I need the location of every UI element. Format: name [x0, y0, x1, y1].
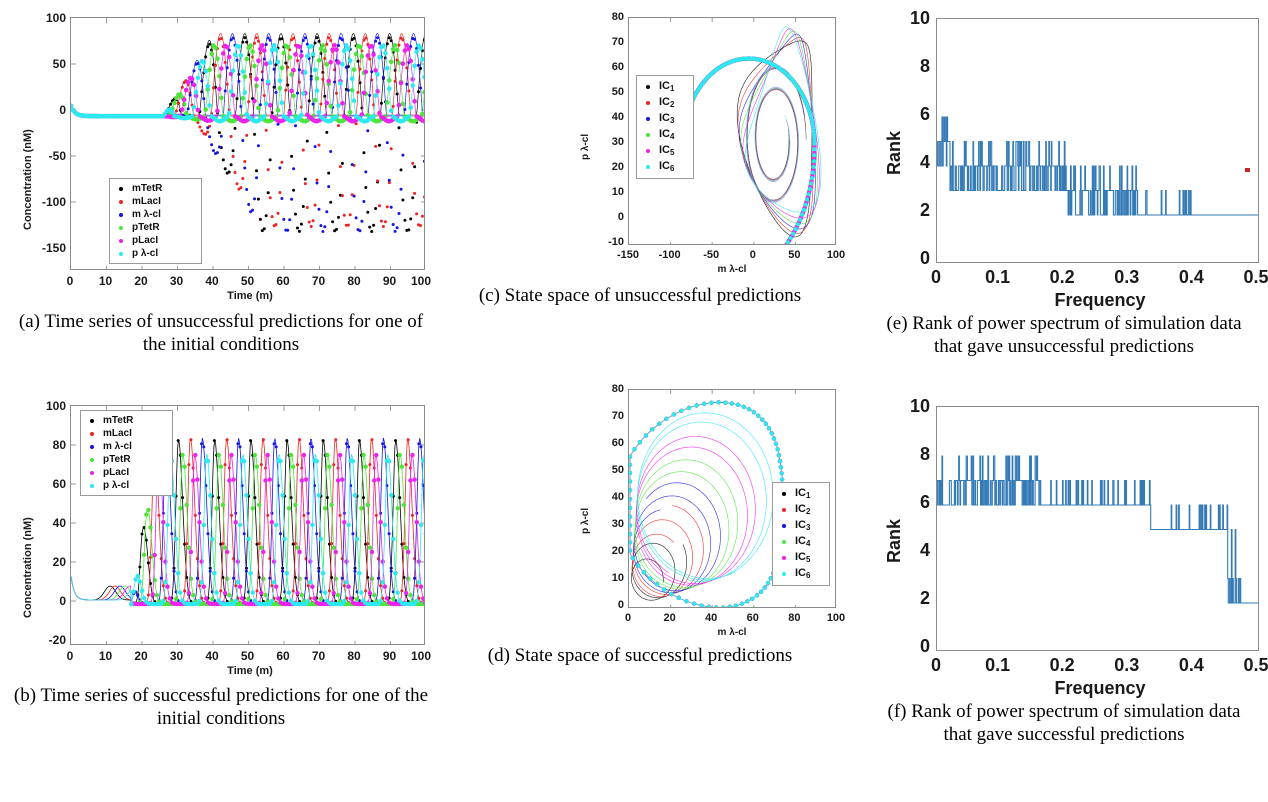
- legend-item: IC6: [640, 159, 688, 175]
- panel-c-xtick-1: -100: [652, 249, 688, 261]
- panel-b-ytick-3: 40: [28, 516, 66, 530]
- panel-c-xtick-2: -50: [693, 249, 729, 261]
- legend-dot-mtetr: [90, 419, 94, 423]
- panel-b-ytick-2: 60: [28, 477, 66, 491]
- legend-label: IC: [795, 487, 806, 499]
- legend-item: mLacI: [113, 195, 196, 208]
- panel-a-xtick-0: 0: [56, 274, 84, 288]
- panel-d-xtick-4: 80: [776, 612, 812, 624]
- panel-a-ytick-1: 50: [28, 57, 66, 71]
- legend-item: IC2: [640, 95, 688, 111]
- legend-dot-ic6: [646, 165, 650, 169]
- legend-label-sub: 4: [806, 540, 810, 549]
- legend-dot-ic1: [782, 492, 786, 496]
- panel-d-ytick-7: 10: [590, 572, 624, 584]
- legend-item: pTetR: [113, 221, 196, 234]
- panel-e-plot-area: [936, 18, 1259, 263]
- legend-label: IC: [659, 128, 670, 140]
- panel-c: p λ-cl 80 70 60 50 40 30 20 10 0 -10 IC1…: [440, 0, 860, 330]
- legend-dot-ic3: [782, 524, 786, 528]
- panel-f: Rank 10 8 6 4 2 0 0 0.1 0.2 0.3 0.4 0.5 …: [860, 388, 1268, 718]
- legend-dot-ic4: [646, 133, 650, 137]
- legend-dot-ic3: [646, 117, 650, 121]
- panel-b-xtick-5: 50: [234, 649, 262, 663]
- panel-f-xtick-2: 0.2: [1044, 655, 1080, 676]
- panel-f-ytick-0: 10: [884, 396, 930, 417]
- panel-a-xtick-4: 40: [198, 274, 226, 288]
- panel-e-ytick-4: 2: [884, 200, 930, 221]
- panel-b-caption: (b) Time series of successful prediction…: [6, 684, 436, 730]
- panel-d-xtick-3: 60: [735, 612, 771, 624]
- legend-item: pLacI: [84, 466, 167, 479]
- panel-c-xtick-0: -150: [610, 249, 646, 261]
- legend-label: m λ-cl: [103, 441, 132, 452]
- legend-label: IC: [795, 503, 806, 515]
- panel-c-ytick-8: 0: [590, 211, 624, 223]
- legend-label: p λ-cl: [103, 480, 129, 491]
- legend-dot-mlambdacl: [119, 213, 123, 217]
- legend-label: IC: [659, 144, 670, 156]
- panel-f-xtick-0: 0: [920, 655, 952, 676]
- panel-a-ytick-0: 100: [28, 11, 66, 25]
- panel-f-xtick-1: 0.1: [980, 655, 1016, 676]
- panel-e-ytick-0: 10: [884, 8, 930, 29]
- legend-item: m λ-cl: [84, 440, 167, 453]
- panel-c-ytick-3: 50: [590, 86, 624, 98]
- legend-label: p λ-cl: [132, 248, 158, 259]
- panel-e-xlabel: Frequency: [1035, 290, 1165, 311]
- panel-d-ytick-2: 60: [590, 437, 624, 449]
- stray-mark: [1245, 168, 1250, 172]
- legend-item: IC4: [776, 534, 824, 550]
- panel-b-ytick-0: 100: [28, 399, 66, 413]
- panel-a-xtick-6: 60: [269, 274, 297, 288]
- panel-f-chart: [937, 407, 1259, 651]
- panel-a-xtick-5: 50: [234, 274, 262, 288]
- panel-f-xtick-4: 0.4: [1173, 655, 1209, 676]
- legend-item: p λ-cl: [113, 247, 196, 260]
- panel-c-caption: (c) State space of unsuccessful predicti…: [465, 284, 815, 307]
- panel-b-xtick-10: 100: [407, 649, 435, 663]
- panel-d-xtick-2: 40: [693, 612, 729, 624]
- panel-b-ytick-5: 0: [28, 594, 66, 608]
- panel-d-ytick-0: 80: [590, 383, 624, 395]
- panel-a-xlabel: Time (m): [190, 290, 310, 302]
- panel-e-xtick-5: 0.5: [1238, 267, 1268, 288]
- panel-a-ylabel: Concentration (nM): [22, 129, 34, 230]
- panel-c-ytick-1: 70: [590, 36, 624, 48]
- panel-f-ytick-1: 8: [884, 444, 930, 465]
- legend-label-sub: 1: [806, 492, 810, 501]
- panel-e: Rank 10 8 6 4 2 0 0 0.1 0.2 0.3 0.4 0.5 …: [860, 0, 1268, 330]
- legend-item: pLacI: [113, 234, 196, 247]
- panel-b-xtick-2: 20: [127, 649, 155, 663]
- panel-d: p λ-cl 80 70 60 50 40 30 20 10 0 IC1 IC2…: [440, 372, 860, 712]
- panel-b-xtick-8: 80: [340, 649, 368, 663]
- legend-label: IC: [795, 519, 806, 531]
- legend-label: IC: [795, 535, 806, 547]
- legend-label-sub: 6: [670, 165, 674, 174]
- panel-a-ytick-2: 0: [28, 103, 66, 117]
- panel-e-ytick-3: 4: [884, 152, 930, 173]
- legend-label-sub: 5: [806, 556, 810, 565]
- legend-dot-mlambdacl: [90, 445, 94, 449]
- legend-label: mLacI: [132, 196, 161, 207]
- panel-d-caption: (d) State space of successful prediction…: [475, 644, 805, 667]
- legend-label: pLacI: [103, 467, 129, 478]
- legend-label: mTetR: [132, 183, 162, 194]
- legend-label-sub: 5: [670, 149, 674, 158]
- panel-a-xtick-9: 90: [376, 274, 404, 288]
- legend-item: IC1: [776, 486, 824, 502]
- panel-f-caption: (f) Rank of power spectrum of simulation…: [884, 700, 1244, 746]
- legend-item: mLacI: [84, 427, 167, 440]
- panel-a-ytick-5: -150: [28, 241, 66, 255]
- panel-a-ytick-4: -100: [28, 195, 66, 209]
- legend-label: IC: [795, 551, 806, 563]
- panel-d-xlabel: m λ-cl: [682, 627, 782, 638]
- panel-b-ytick-1: 80: [28, 438, 66, 452]
- legend-label-sub: 2: [670, 101, 674, 110]
- panel-d-xtick-1: 20: [652, 612, 688, 624]
- panel-f-xlabel: Frequency: [1035, 678, 1165, 699]
- panel-d-ytick-5: 30: [590, 518, 624, 530]
- legend-dot-ptetr: [90, 458, 94, 462]
- legend-label-sub: 6: [806, 572, 810, 581]
- legend-item: IC5: [776, 550, 824, 566]
- legend-item: IC4: [640, 127, 688, 143]
- panel-b-xtick-1: 10: [92, 649, 120, 663]
- panel-a-xtick-1: 10: [92, 274, 120, 288]
- legend-label: IC: [659, 96, 670, 108]
- legend-label: pLacI: [132, 235, 158, 246]
- panel-f-ytick-5: 0: [884, 636, 930, 657]
- legend-label-sub: 3: [806, 524, 810, 533]
- panel-b-xtick-7: 70: [305, 649, 333, 663]
- legend-item: IC6: [776, 566, 824, 582]
- legend-item: p λ-cl: [84, 479, 167, 492]
- panel-c-xtick-5: 100: [818, 249, 854, 261]
- panel-a-xtick-7: 70: [305, 274, 333, 288]
- panel-e-ytick-2: 6: [884, 104, 930, 125]
- panel-d-ytick-6: 20: [590, 545, 624, 557]
- panel-a-ytick-3: -50: [28, 149, 66, 163]
- legend-dot-ic6: [782, 572, 786, 576]
- panel-e-ytick-5: 0: [884, 248, 930, 269]
- panel-f-xtick-5: 0.5: [1238, 655, 1268, 676]
- panel-f-ytick-2: 6: [884, 492, 930, 513]
- panel-c-xtick-3: 0: [735, 249, 771, 261]
- panel-b: Concentration (nM) 100 80 60 40 20 0 -20: [0, 388, 440, 718]
- panel-e-xtick-0: 0: [920, 267, 952, 288]
- panel-e-chart: [937, 19, 1259, 263]
- legend-label: mTetR: [103, 415, 133, 426]
- panel-c-ytick-9: -10: [590, 236, 624, 248]
- legend-label: pTetR: [132, 222, 160, 233]
- legend-dot-mtetr: [119, 187, 123, 191]
- panel-f-ytick-3: 4: [884, 540, 930, 561]
- legend-label: IC: [795, 567, 806, 579]
- legend-label: IC: [659, 80, 670, 92]
- legend-dot-plambdacl: [119, 252, 123, 256]
- legend-label-sub: 2: [806, 508, 810, 517]
- panel-b-xtick-4: 40: [198, 649, 226, 663]
- legend-label: IC: [659, 160, 670, 172]
- panel-e-xtick-4: 0.4: [1173, 267, 1209, 288]
- legend-item: mTetR: [113, 182, 196, 195]
- legend-dot-mlaci: [90, 432, 94, 436]
- legend-label-sub: 4: [670, 133, 674, 142]
- panel-c-ytick-4: 40: [590, 111, 624, 123]
- panel-a-xtick-3: 30: [163, 274, 191, 288]
- panel-c-xlabel: m λ-cl: [682, 264, 782, 275]
- panel-a-caption: (a) Time series of unsuccessful predicti…: [6, 310, 436, 356]
- legend-item: IC3: [776, 518, 824, 534]
- panel-b-ytick-6: -20: [28, 633, 66, 647]
- panel-a-xtick-10: 100: [407, 274, 435, 288]
- panel-c-ytick-7: 10: [590, 186, 624, 198]
- panel-d-ytick-1: 70: [590, 410, 624, 422]
- panel-a-xtick-8: 80: [340, 274, 368, 288]
- legend-label: mLacI: [103, 428, 132, 439]
- panel-b-xtick-6: 60: [269, 649, 297, 663]
- panel-a-xtick-2: 20: [127, 274, 155, 288]
- panel-d-ytick-8: 0: [590, 599, 624, 611]
- legend-dot-placi: [119, 239, 123, 243]
- legend-dot-ic4: [782, 540, 786, 544]
- panel-b-xtick-3: 30: [163, 649, 191, 663]
- panel-f-ytick-4: 2: [884, 588, 930, 609]
- panel-e-xtick-2: 0.2: [1044, 267, 1080, 288]
- legend-item: IC2: [776, 502, 824, 518]
- legend-dot-plambdacl: [90, 484, 94, 488]
- panel-c-legend: IC1 IC2 IC3 IC4 IC5 IC6: [636, 75, 694, 179]
- legend-label-sub: 1: [670, 85, 674, 94]
- legend-dot-ptetr: [119, 226, 123, 230]
- legend-dot-ic2: [782, 508, 786, 512]
- panel-b-legend: mTetR mLacI m λ-cl pTetR pLacI p λ-cl: [80, 410, 173, 496]
- panel-c-ytick-0: 80: [590, 11, 624, 23]
- legend-label: m λ-cl: [132, 209, 161, 220]
- panel-c-xtick-4: 50: [776, 249, 812, 261]
- panel-b-xtick-0: 0: [56, 649, 84, 663]
- panel-c-ytick-5: 30: [590, 136, 624, 148]
- panel-e-ytick-1: 8: [884, 56, 930, 77]
- panel-d-ytick-4: 40: [590, 491, 624, 503]
- panel-c-ytick-2: 60: [590, 61, 624, 73]
- panel-d-xtick-0: 0: [610, 612, 646, 624]
- panel-f-xtick-3: 0.3: [1109, 655, 1145, 676]
- legend-item: IC1: [640, 79, 688, 95]
- legend-item: mTetR: [84, 414, 167, 427]
- legend-label-sub: 3: [670, 117, 674, 126]
- panel-d-xtick-5: 100: [818, 612, 854, 624]
- panel-e-xtick-3: 0.3: [1109, 267, 1145, 288]
- legend-dot-ic5: [646, 149, 650, 153]
- panel-e-caption: (e) Rank of power spectrum of simulation…: [884, 312, 1244, 358]
- legend-dot-ic1: [646, 85, 650, 89]
- panel-d-ytick-3: 50: [590, 464, 624, 476]
- legend-item: IC5: [640, 143, 688, 159]
- legend-item: pTetR: [84, 453, 167, 466]
- legend-dot-ic2: [646, 101, 650, 105]
- panel-b-xtick-9: 90: [376, 649, 404, 663]
- panel-a-legend: mTetR mLacI m λ-cl pTetR pLacI p λ-cl: [109, 178, 202, 264]
- legend-dot-mlaci: [119, 200, 123, 204]
- legend-item: m λ-cl: [113, 208, 196, 221]
- legend-dot-ic5: [782, 556, 786, 560]
- panel-d-legend: IC1 IC2 IC3 IC4 IC5 IC6: [772, 482, 830, 586]
- panel-c-ytick-6: 20: [590, 161, 624, 173]
- legend-dot-placi: [90, 471, 94, 475]
- legend-label: IC: [659, 112, 670, 124]
- panel-b-ytick-4: 20: [28, 555, 66, 569]
- panel-b-xlabel: Time (m): [190, 665, 310, 677]
- legend-label: pTetR: [103, 454, 131, 465]
- panel-a: Concentration (nM) 100 50 0 -50 -100 -15…: [0, 0, 440, 330]
- panel-e-xtick-1: 0.1: [980, 267, 1016, 288]
- panel-f-plot-area: [936, 406, 1259, 651]
- legend-item: IC3: [640, 111, 688, 127]
